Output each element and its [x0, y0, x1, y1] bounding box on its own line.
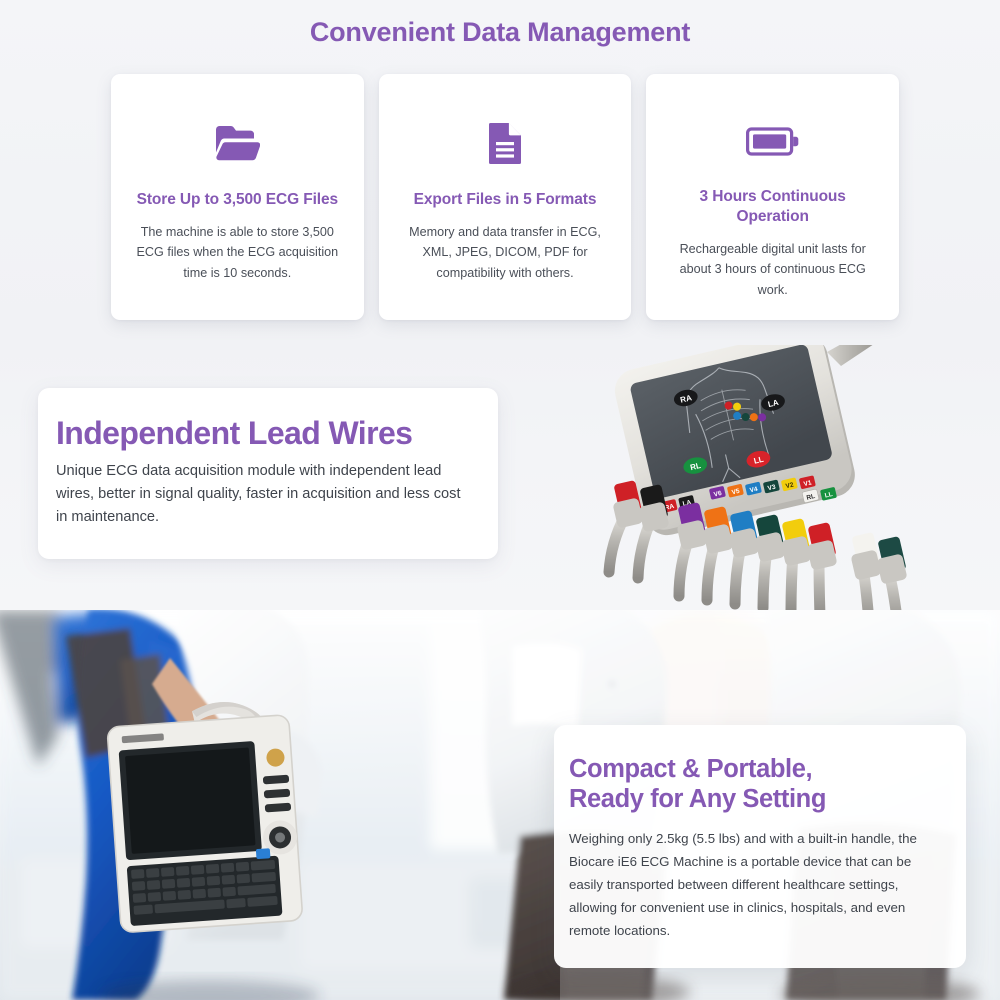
feature-card-storage: Store Up to 3,500 ECG Files The machine … [111, 74, 364, 320]
feature-card-body: Rechargeable digital unit lasts for abou… [668, 239, 877, 300]
battery-full-icon [746, 118, 800, 165]
feature-card-title: 3 Hours Continuous Operation [668, 187, 877, 227]
lead-wires-title: Independent Lead Wires [56, 416, 472, 451]
convenient-data-management-section: Convenient Data Management Store Up to 3… [0, 0, 1000, 345]
document-lines-icon [487, 118, 523, 168]
compact-portable-body: Weighing only 2.5kg (5.5 lbs) and with a… [569, 828, 936, 942]
lead-wires-body: Unique ECG data acquisition module with … [56, 460, 472, 529]
feature-card-body: The machine is able to store 3,500 ECG f… [133, 222, 342, 283]
open-folder-icon [214, 118, 260, 168]
compact-portable-title-line2: Ready for Any Setting [569, 785, 826, 813]
feature-card-title: Store Up to 3,500 ECG Files [137, 190, 338, 210]
compact-portable-card: Compact & Portable, Ready for Any Settin… [554, 725, 966, 968]
compact-portable-title-line1: Compact & Portable, [569, 755, 812, 783]
ecg-acquisition-module-photo: RA LA RL LL [595, 345, 1000, 610]
feature-card-export: Export Files in 5 Formats Memory and dat… [379, 74, 632, 320]
feature-card-title: Export Files in 5 Formats [414, 190, 597, 210]
section-title: Convenient Data Management [0, 17, 1000, 48]
independent-lead-wires-section: Independent Lead Wires Unique ECG data a… [0, 345, 1000, 610]
feature-card-body: Memory and data transfer in ECG, XML, JP… [401, 222, 610, 283]
lead-wires-card: Independent Lead Wires Unique ECG data a… [38, 388, 498, 559]
product-feature-page: Convenient Data Management Store Up to 3… [0, 0, 1000, 1000]
feature-card-battery: 3 Hours Continuous Operation Rechargeabl… [646, 74, 899, 320]
feature-card-list: Store Up to 3,500 ECG Files The machine … [111, 74, 899, 320]
compact-portable-title: Compact & Portable, Ready for Any Settin… [569, 755, 936, 814]
